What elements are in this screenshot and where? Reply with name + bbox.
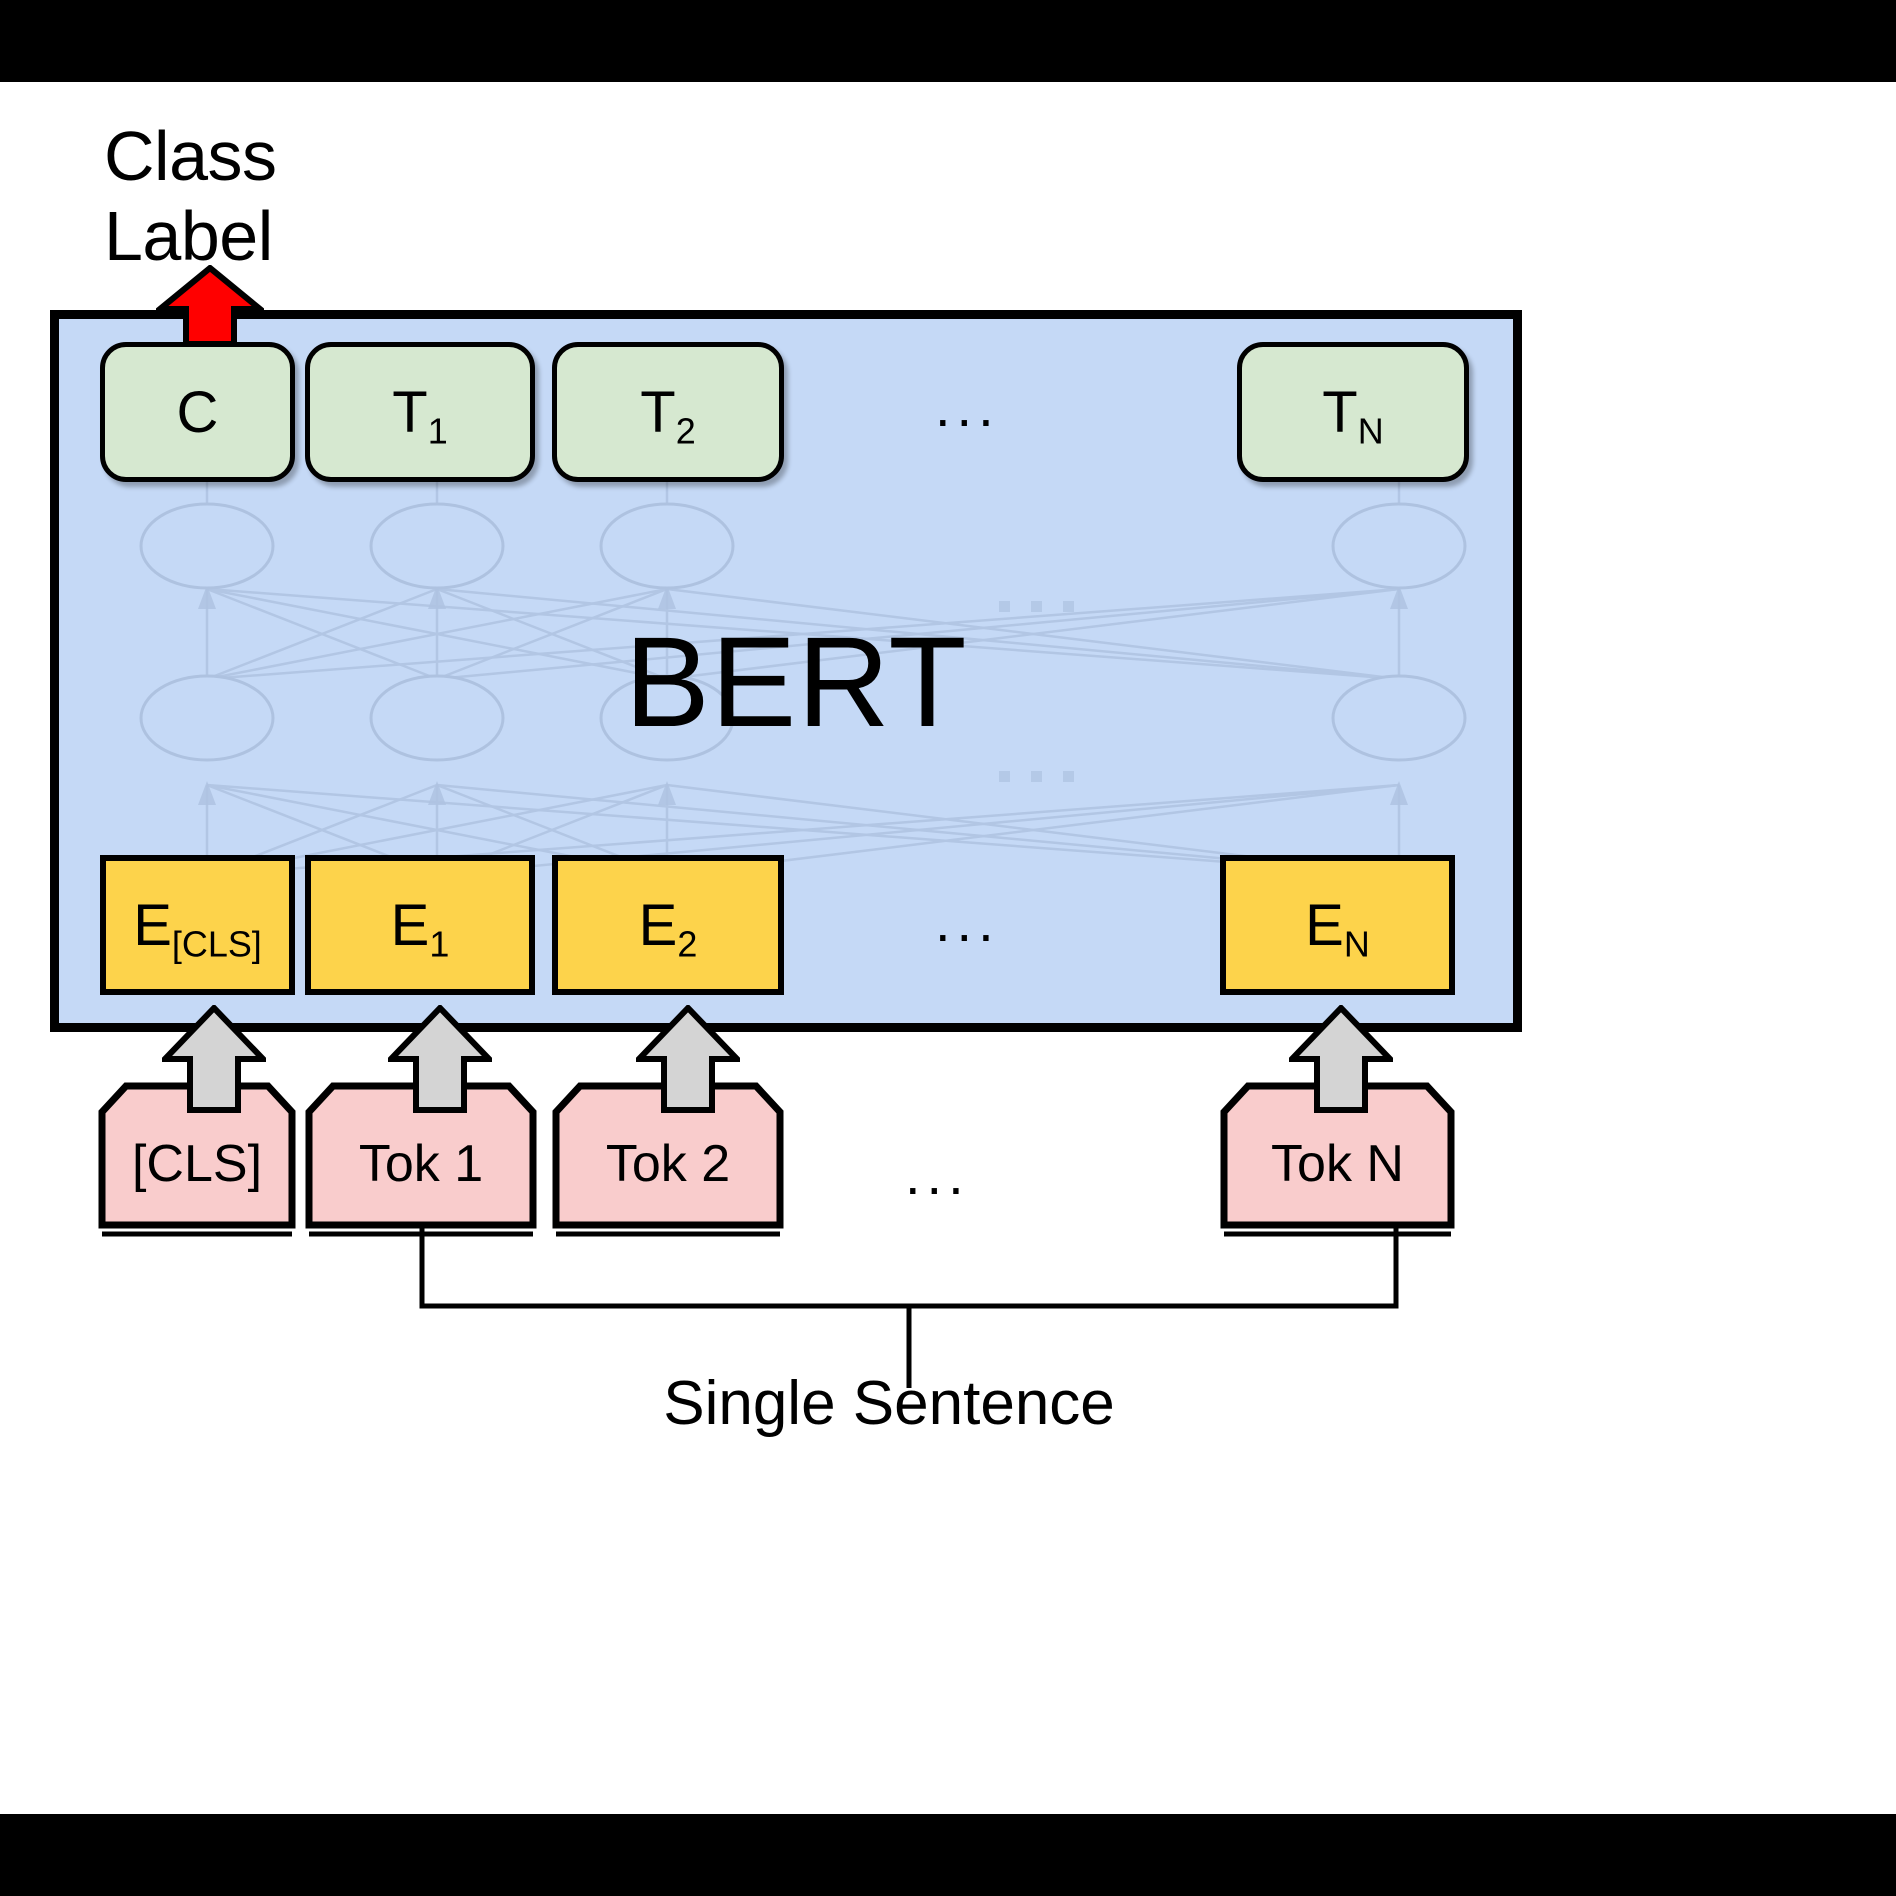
bert-wordmark: BERT <box>59 619 1513 747</box>
bert-wordmark-text: BERT <box>604 611 967 754</box>
input-arrow-2 <box>636 1005 740 1113</box>
letterbox-top <box>0 0 1896 82</box>
embedding-box-en[interactable]: EN <box>1220 855 1455 995</box>
diagram-stage: Class Label <box>0 82 1896 1814</box>
output-box-t1[interactable]: T1 <box>305 342 535 482</box>
output-box-c-label: C <box>177 379 219 446</box>
output-box-tn[interactable]: TN <box>1237 342 1469 482</box>
embedding-box-cls[interactable]: E[CLS] <box>100 855 295 995</box>
class-label-arrow <box>156 265 264 347</box>
output-box-t1-label: T1 <box>392 379 447 446</box>
sentence-bracket <box>380 1222 1440 1392</box>
embedding-box-e1[interactable]: E1 <box>305 855 535 995</box>
output-box-tn-label: TN <box>1322 379 1383 446</box>
embedding-box-cls-label: E[CLS] <box>133 892 262 959</box>
embedding-box-e2[interactable]: E2 <box>552 855 784 995</box>
input-arrow-n <box>1289 1005 1393 1113</box>
input-arrow-cls <box>162 1005 266 1113</box>
output-box-t2-label: T2 <box>640 379 695 446</box>
input-arrow-1 <box>388 1005 492 1113</box>
embedding-row-ellipsis: ... <box>935 902 1000 942</box>
embedding-box-e1-label: E1 <box>391 892 450 959</box>
diagram-canvas: Class Label <box>0 0 1896 1896</box>
token-row-ellipsis: ... <box>905 1155 970 1195</box>
output-row-ellipsis: ... <box>935 387 1000 427</box>
output-box-c[interactable]: C <box>100 342 295 482</box>
letterbox-bottom <box>0 1814 1896 1896</box>
embedding-box-e2-label: E2 <box>639 892 698 959</box>
class-label-text: Class Label <box>104 116 434 276</box>
output-box-t2[interactable]: T2 <box>552 342 784 482</box>
embedding-box-en-label: EN <box>1305 892 1370 959</box>
